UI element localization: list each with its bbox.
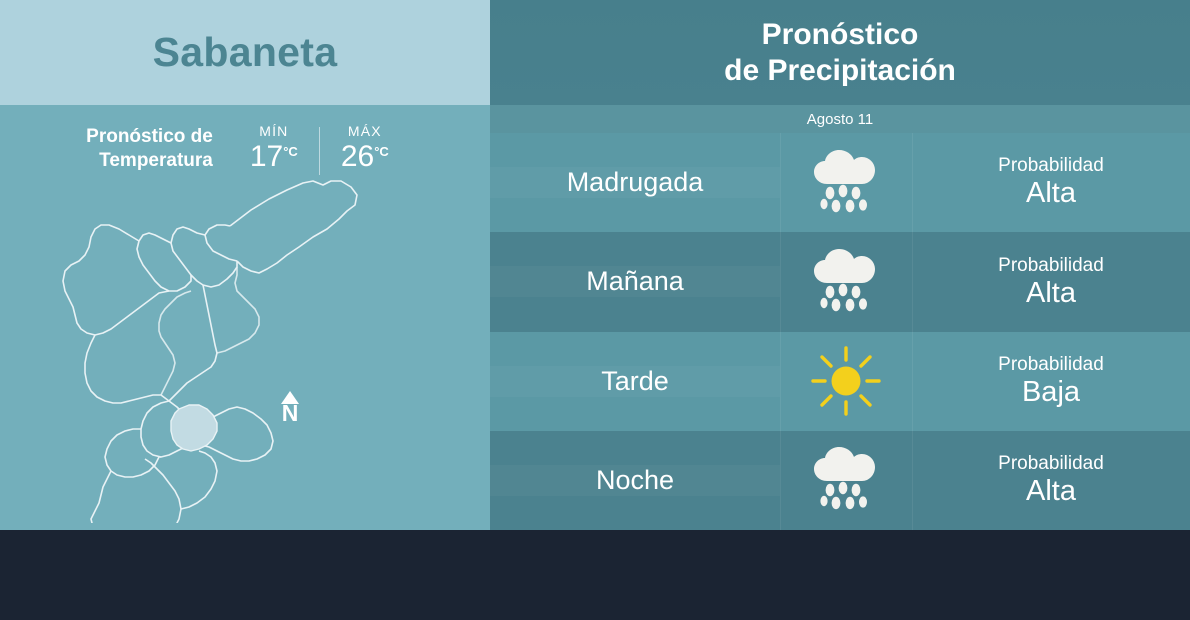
forecast-row: Noche [490,431,1190,530]
max-unit: °C [374,144,389,159]
probability-label: Probabilidad [912,155,1190,177]
forecast-title: Pronóstico de Precipitación [724,17,956,88]
rain-cloud-icon [780,148,912,218]
probability-value: Alta [912,177,1190,209]
probability-label: Probabilidad [912,453,1190,475]
probability-value: Alta [912,475,1190,507]
forecast-row: Mañana [490,232,1190,331]
forecast-title-line2: de Precipitación [724,53,956,88]
probability-value: Baja [912,376,1190,408]
forecast-row: Madrugada [490,133,1190,232]
forecast-period: Tarde [490,366,780,397]
forecast-date-bar: Agosto 11 [490,105,1190,133]
temperature-label-line1: Pronóstico de [86,125,213,149]
forecast-period: Mañana [490,266,780,297]
temperature-map-panel: Pronóstico de Temperatura MÍN 17°C MÁX [0,105,490,530]
city-header: Sabaneta [0,0,490,105]
min-caption: MÍN [235,123,313,139]
forecast-rows: Madrugada [490,133,1190,530]
forecast-header: Pronóstico de Precipitación [490,0,1190,105]
rain-cloud-icon [780,445,912,515]
column-divider-1 [780,133,781,530]
precipitation-probability: Probabilidad Alta [912,155,1190,209]
min-unit: °C [283,144,298,159]
precipitation-probability: Probabilidad Baja [912,354,1190,408]
sun-icon [780,345,912,417]
right-panel: Pronóstico de Precipitación Agosto 11 Ma… [490,0,1190,530]
forecast-row: Tarde [490,332,1190,431]
compass-label: N [277,403,303,425]
weather-forecast-graphic: Sabaneta Pronóstico de Temperatura MÍN 1… [0,0,1190,620]
valle-de-aburra-map-svg [55,163,385,523]
left-panel: Sabaneta Pronóstico de Temperatura MÍN 1… [0,0,490,530]
municipality-map: N [0,163,490,528]
forecast-period: Noche [490,465,780,496]
probability-label: Probabilidad [912,354,1190,376]
column-divider-2 [912,133,913,530]
page-title: Sabaneta [153,29,338,76]
rain-cloud-icon [780,247,912,317]
compass-north-indicator: N [277,391,303,425]
forecast-period: Madrugada [490,167,780,198]
forecast-title-line1: Pronóstico [724,17,956,52]
footer: Con el apoyo de: Un proyecto de: SIATA e… [0,530,1190,620]
precipitation-probability: Probabilidad Alta [912,453,1190,507]
precipitation-probability: Probabilidad Alta [912,255,1190,309]
probability-value: Alta [912,277,1190,309]
forecast-date: Agosto 11 [807,111,873,128]
probability-label: Probabilidad [912,255,1190,277]
max-caption: MÁX [326,123,404,139]
